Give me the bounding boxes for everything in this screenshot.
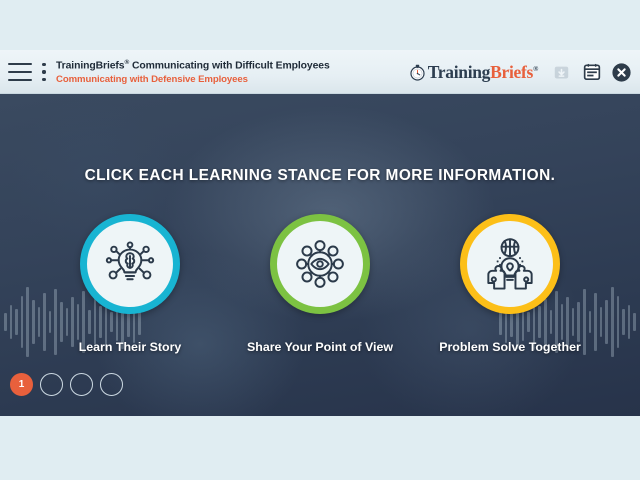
- stance-circle[interactable]: [460, 214, 560, 314]
- player-header: TrainingBriefs® Communicating with Diffi…: [0, 50, 640, 94]
- pagination-dot-1[interactable]: 1: [10, 373, 33, 396]
- hamburger-menu-icon[interactable]: [8, 63, 32, 81]
- notes-icon[interactable]: [581, 62, 602, 83]
- pagination-dot-2[interactable]: 2: [40, 373, 63, 396]
- trainingbriefs-logo: TrainingBriefs®: [409, 62, 538, 83]
- download-resources-icon[interactable]: [551, 62, 572, 83]
- course-title: TrainingBriefs® Communicating with Diffi…: [56, 59, 330, 72]
- learning-stance-group: Learn Their Story: [0, 214, 640, 354]
- stance-learn-their-story[interactable]: Learn Their Story: [35, 214, 225, 354]
- header-right-group: TrainingBriefs®: [409, 50, 632, 94]
- brand-wordmark: TrainingBriefs®: [428, 62, 538, 83]
- slide-headline: CLICK EACH LEARNING STANCE FOR MORE INFO…: [0, 167, 640, 185]
- slide-pagination: 1234: [10, 373, 123, 396]
- stance-label: Problem Solve Together: [439, 340, 581, 354]
- course-title-brand: TrainingBriefs: [56, 60, 124, 71]
- course-player: TrainingBriefs® Communicating with Diffi…: [0, 50, 640, 416]
- more-options-icon[interactable]: [41, 63, 47, 81]
- brand-training: Training: [428, 62, 490, 82]
- stance-label: Share Your Point of View: [247, 340, 393, 354]
- brand-briefs: Briefs: [490, 62, 533, 82]
- stance-share-your-point-of-view[interactable]: Share Your Point of View: [225, 214, 415, 354]
- course-title-rest: Communicating with Difficult Employees: [129, 60, 329, 71]
- stance-label: Learn Their Story: [79, 340, 182, 354]
- brand-registered-mark: ®: [533, 65, 538, 73]
- stance-problem-solve-together[interactable]: Problem Solve Together: [415, 214, 605, 354]
- lesson-title: Communicating with Defensive Employees: [56, 74, 330, 85]
- stance-circle[interactable]: [80, 214, 180, 314]
- close-icon[interactable]: [611, 62, 632, 83]
- brain-lightbulb-network-icon: [97, 231, 163, 297]
- stopwatch-icon: [409, 64, 426, 81]
- slide-stage: CLICK EACH LEARNING STANCE FOR MORE INFO…: [0, 94, 640, 416]
- pagination-dot-3[interactable]: 3: [70, 373, 93, 396]
- pagination-dot-4[interactable]: 4: [100, 373, 123, 396]
- header-titles: TrainingBriefs® Communicating with Diffi…: [56, 59, 330, 85]
- collaboration-puzzle-globe-icon: [477, 231, 543, 297]
- eye-network-icon: [287, 231, 353, 297]
- page-frame: TrainingBriefs® Communicating with Diffi…: [0, 0, 640, 480]
- header-left-group: TrainingBriefs® Communicating with Diffi…: [8, 50, 330, 94]
- stance-circle[interactable]: [270, 214, 370, 314]
